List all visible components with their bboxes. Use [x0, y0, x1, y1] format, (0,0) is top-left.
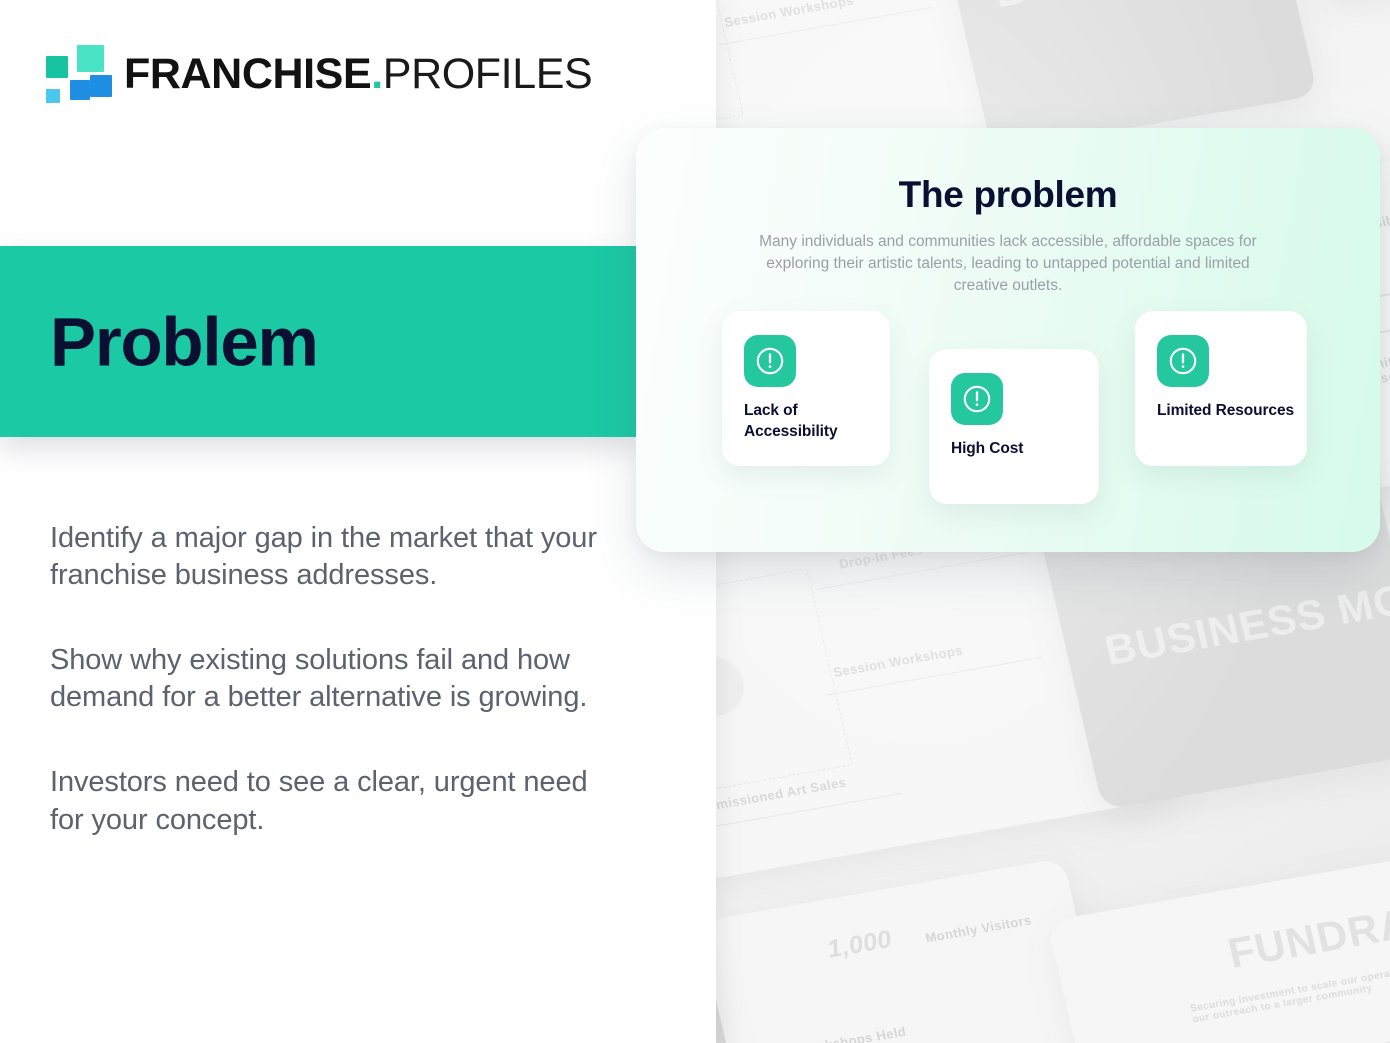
bg-desc-business-model: Revenue generation through diverse strea…	[1007, 8, 1241, 80]
problem-item-label: High Cost	[951, 439, 1089, 460]
problem-card-subtitle: Many individuals and communities lack ac…	[750, 231, 1266, 297]
bg-stat-label-visitors: Monthly Visitors	[924, 912, 1033, 945]
brand-name-bold: FRANCHISE	[124, 50, 371, 98]
logo-square-green	[46, 56, 68, 78]
bg-desc-business-model: Revenue generation through diverse strea…	[1118, 664, 1360, 727]
problem-item-list: Lack of Accessibility High Cost	[722, 311, 1314, 501]
body-paragraph-3: Investors need to see a clear, urgent ne…	[50, 764, 616, 838]
logo-square-cyan	[46, 89, 60, 103]
problem-preview-card[interactable]: The problem Many individuals and communi…	[636, 128, 1380, 552]
brand-name-dot: .	[371, 50, 383, 98]
logo-square-blue-right	[90, 75, 112, 97]
left-content-panel: FRANCHISE.PROFILES Problem Identify a ma…	[0, 0, 716, 1043]
bg-label-session-workshops: Session Workshops	[723, 0, 855, 30]
body-paragraph-1: Identify a major gap in the market that …	[50, 520, 616, 594]
page-title: Problem	[50, 307, 318, 376]
alert-circle-icon	[744, 335, 796, 387]
bg-title-fundraising: FUNDRAISING	[1224, 878, 1390, 977]
problem-item-card[interactable]: Limited Resources	[1135, 311, 1307, 466]
logo-square-blue-mid	[70, 80, 90, 100]
problem-card-title: The problem	[636, 174, 1380, 216]
body-paragraph-2: Show why existing solutions fail and how…	[50, 642, 616, 716]
bg-slide-fundraising: FUNDRAISING Securing investment to scale…	[1047, 831, 1390, 1043]
bg-stat-label-workshops: Workshops Held	[798, 1024, 908, 1043]
logo-square-mint	[77, 45, 104, 72]
problem-item-card[interactable]: Lack of Accessibility	[722, 311, 890, 466]
alert-circle-icon	[951, 373, 1003, 425]
brand-name-light: PROFILES	[383, 50, 592, 98]
bg-stat-value-visitors: 1,000	[825, 925, 895, 964]
problem-item-label: Lack of Accessibility	[744, 401, 880, 443]
squares-logo-icon	[46, 45, 106, 103]
slide-canvas: Drop-In Fees Session Workshops Commissio…	[0, 0, 1390, 1043]
brand-wordmark: FRANCHISE.PROFILES	[124, 53, 592, 96]
brand-logo[interactable]: FRANCHISE.PROFILES	[46, 42, 592, 106]
bg-title-business-model: BUSINESS MODEL	[989, 0, 1317, 17]
section-banner: Problem	[0, 246, 638, 437]
alert-circle-icon	[1157, 335, 1209, 387]
problem-item-label: Limited Resources	[1157, 401, 1297, 422]
bg-donut-chart	[1290, 1022, 1390, 1043]
bg-title-business-model: BUSINESS MODEL	[1100, 560, 1390, 675]
problem-item-card[interactable]: High Cost	[929, 349, 1099, 504]
body-copy: Identify a major gap in the market that …	[50, 520, 616, 839]
